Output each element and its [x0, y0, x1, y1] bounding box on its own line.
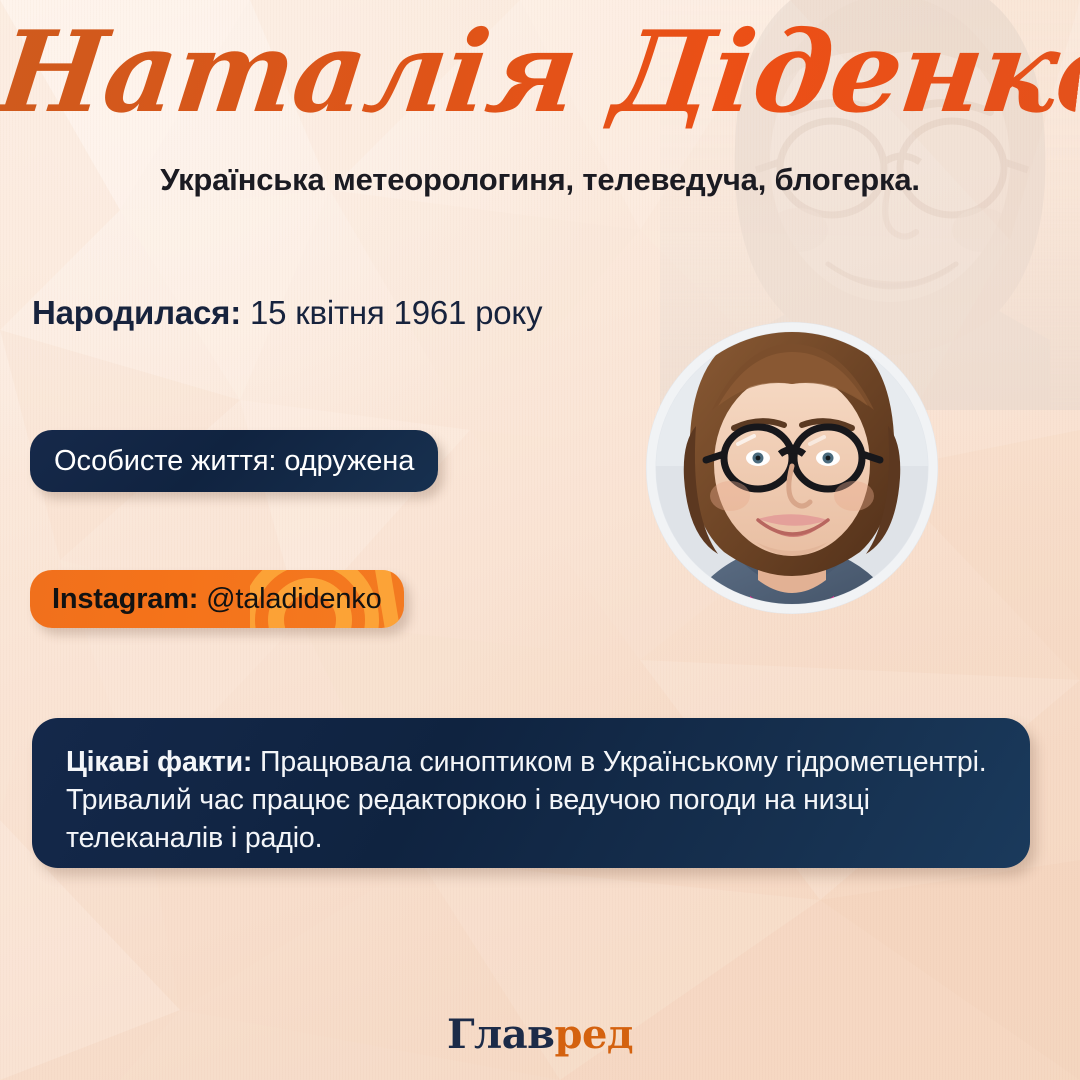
interesting-facts-text: Цікаві факти: Працювала синоптиком в Укр…	[66, 744, 996, 858]
birth-date-line: Народилася: 15 квітня 1961 року	[32, 294, 542, 332]
infographic-card: Наталія Діденко Українська метеорологиня…	[0, 0, 1080, 1080]
birth-date-label: Народилася:	[32, 294, 241, 331]
instagram-badge[interactable]: Instagram: @taladidenko	[30, 570, 404, 628]
page-subtitle: Українська метеорологиня, телеведуча, бл…	[0, 162, 1080, 198]
portrait-photo	[646, 306, 938, 630]
glavred-logo[interactable]: Главред	[0, 1011, 1080, 1058]
page-title: Наталія Діденко	[0, 14, 1080, 132]
interesting-facts-label: Цікаві факти:	[66, 746, 252, 778]
instagram-label: Instagram:	[52, 583, 198, 615]
personal-life-text: Особисте життя: одружена	[54, 445, 414, 478]
instagram-handle: @taladidenko	[198, 583, 381, 615]
personal-life-badge: Особисте життя: одружена	[30, 430, 438, 492]
logo-part-dark: Глав	[447, 1011, 555, 1058]
instagram-text: Instagram: @taladidenko	[52, 583, 382, 616]
interesting-facts-block: Цікаві факти: Працювала синоптиком в Укр…	[32, 718, 1030, 868]
birth-date-value: 15 квітня 1961 року	[241, 294, 542, 331]
logo-part-accent: ред	[554, 1011, 633, 1058]
